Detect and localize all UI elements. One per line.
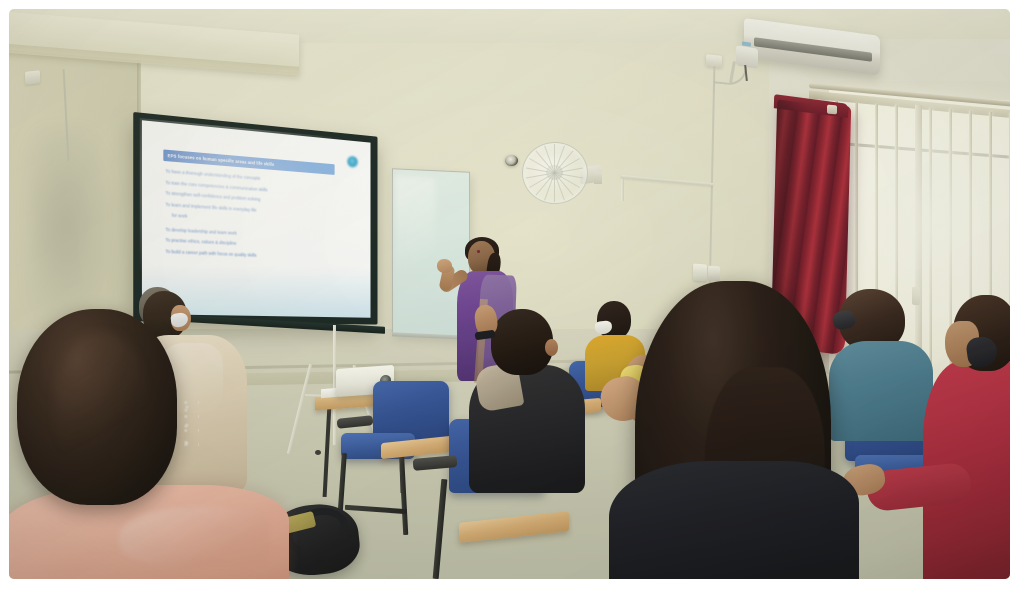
cctv-camera-icon — [505, 155, 518, 166]
student-center-dark — [467, 309, 587, 489]
wall-switch-plate[interactable] — [693, 264, 707, 282]
clothing-fold — [119, 507, 269, 567]
classroom-photograph: EPS focuses on human specific areas and … — [9, 9, 1010, 579]
slide-bullet-list: To have a thorough understanding of the … — [165, 169, 352, 268]
tripod-foot — [315, 450, 321, 455]
student-red-top — [939, 295, 1010, 579]
fan-stem — [594, 172, 602, 184]
slide-title: EPS focuses on human specific areas and … — [163, 153, 274, 167]
whiteboard-glare — [395, 176, 435, 298]
student-hair-highlight — [55, 333, 147, 483]
student-torso — [609, 461, 859, 579]
photo-white-frame: EPS focuses on human specific areas and … — [0, 0, 1018, 589]
presenter-bindi — [477, 250, 480, 253]
student-ear — [545, 339, 558, 356]
student-head — [491, 309, 553, 375]
wall-fan — [522, 142, 594, 214]
wall-socket-plate[interactable] — [708, 266, 720, 282]
curtain-hook — [827, 105, 837, 115]
slide-bullet: To build a career path with focus on qua… — [165, 250, 352, 262]
student-front-left — [9, 309, 299, 579]
wall-conduit-vertical — [621, 179, 624, 201]
student-long-hair — [609, 281, 869, 579]
presenter-hand — [437, 259, 452, 273]
slide-logo-icon — [347, 156, 358, 168]
left-wall-socket[interactable] — [25, 70, 40, 85]
